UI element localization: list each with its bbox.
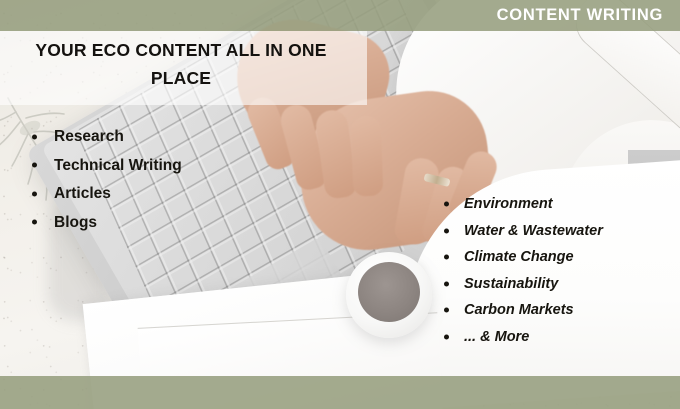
bullet-icon — [32, 134, 37, 139]
header-title: CONTENT WRITING — [497, 6, 663, 25]
list-item: Technical Writing — [32, 158, 182, 174]
list-item-label: Articles — [54, 186, 111, 202]
topics-list: Environment Water & Wastewater Climate C… — [444, 197, 603, 356]
list-item: Sustainability — [444, 277, 603, 292]
list-item-label: Environment — [464, 197, 553, 212]
list-item-label: Climate Change — [464, 250, 574, 265]
list-item: Water & Wastewater — [444, 224, 603, 239]
list-item: Carbon Markets — [444, 303, 603, 318]
page-title: YOUR ECO CONTENT ALL IN ONE PLACE — [0, 36, 362, 93]
list-item: Articles — [32, 186, 182, 202]
list-item-label: Blogs — [54, 215, 97, 231]
list-item-label: ... & More — [464, 330, 529, 345]
bullet-icon — [32, 163, 37, 168]
bullet-icon — [444, 228, 449, 233]
list-item: Blogs — [32, 215, 182, 231]
list-item: Climate Change — [444, 250, 603, 265]
bullet-icon — [32, 220, 37, 225]
bullet-icon — [444, 281, 449, 286]
gig-thumbnail-canvas: CONTENT WRITING YOUR ECO CONTENT ALL IN … — [0, 0, 680, 409]
list-item-label: Research — [54, 129, 124, 145]
list-item: Environment — [444, 197, 603, 212]
list-item-label: Carbon Markets — [464, 303, 574, 318]
services-list: Research Technical Writing Articles Blog… — [32, 129, 182, 243]
coffee-liquid — [358, 262, 420, 322]
bullet-icon — [444, 255, 449, 260]
finger — [351, 116, 384, 197]
list-item-label: Sustainability — [464, 277, 558, 292]
footer-bar — [0, 376, 680, 409]
bullet-icon — [444, 334, 449, 339]
bullet-icon — [444, 202, 449, 207]
list-item: Research — [32, 129, 182, 145]
list-item: ... & More — [444, 330, 603, 345]
list-item-label: Technical Writing — [54, 158, 182, 174]
bullet-icon — [444, 308, 449, 313]
header-bar: CONTENT WRITING — [0, 0, 680, 31]
bullet-icon — [32, 191, 37, 196]
list-item-label: Water & Wastewater — [464, 224, 603, 239]
